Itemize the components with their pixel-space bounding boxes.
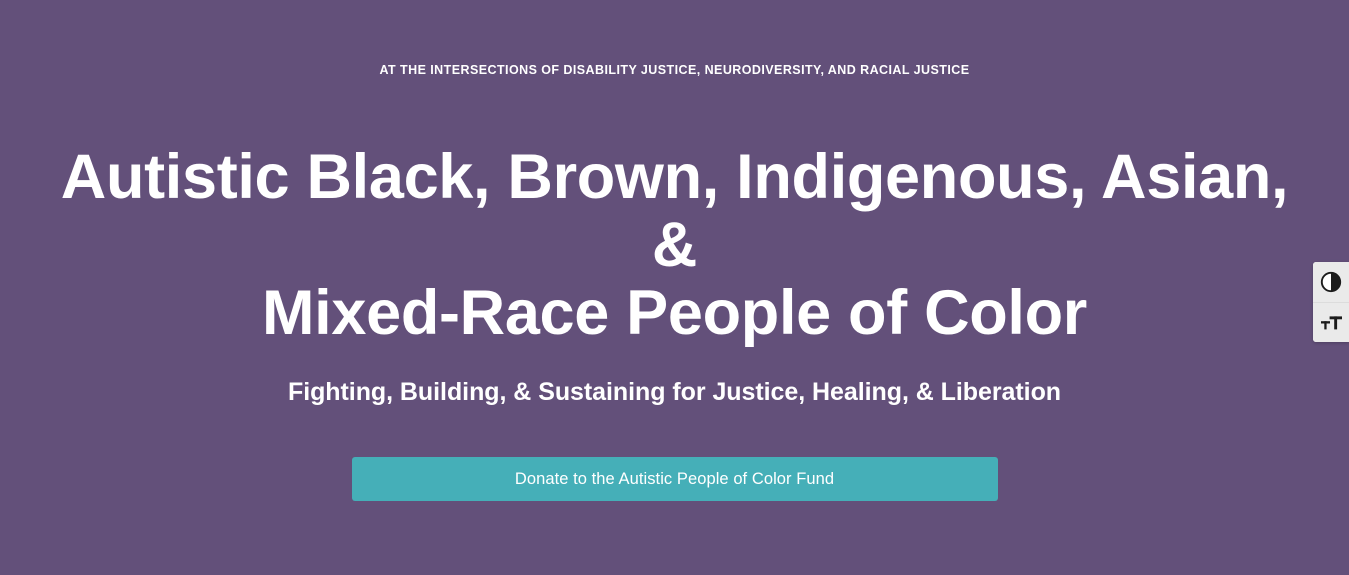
page-title-line-1: Autistic Black, Brown, Indigenous, Asian…: [40, 143, 1309, 279]
page-title-line-2: Mixed-Race People of Color: [40, 279, 1309, 347]
page-title: Autistic Black, Brown, Indigenous, Asian…: [0, 143, 1349, 347]
text-size-button[interactable]: [1313, 302, 1349, 342]
contrast-toggle-button[interactable]: [1313, 262, 1349, 302]
cta-container: Donate to the Autistic People of Color F…: [0, 457, 1349, 506]
hero-subheading: Fighting, Building, & Sustaining for Jus…: [0, 375, 1349, 409]
hero-content: AT THE INTERSECTIONS OF DISABILITY JUSTI…: [0, 0, 1349, 506]
hero-section: AT THE INTERSECTIONS OF DISABILITY JUSTI…: [0, 0, 1349, 575]
accessibility-toolbar: [1313, 262, 1349, 342]
donate-button[interactable]: Donate to the Autistic People of Color F…: [352, 457, 998, 501]
hero-eyebrow-text: AT THE INTERSECTIONS OF DISABILITY JUSTI…: [0, 60, 1349, 80]
